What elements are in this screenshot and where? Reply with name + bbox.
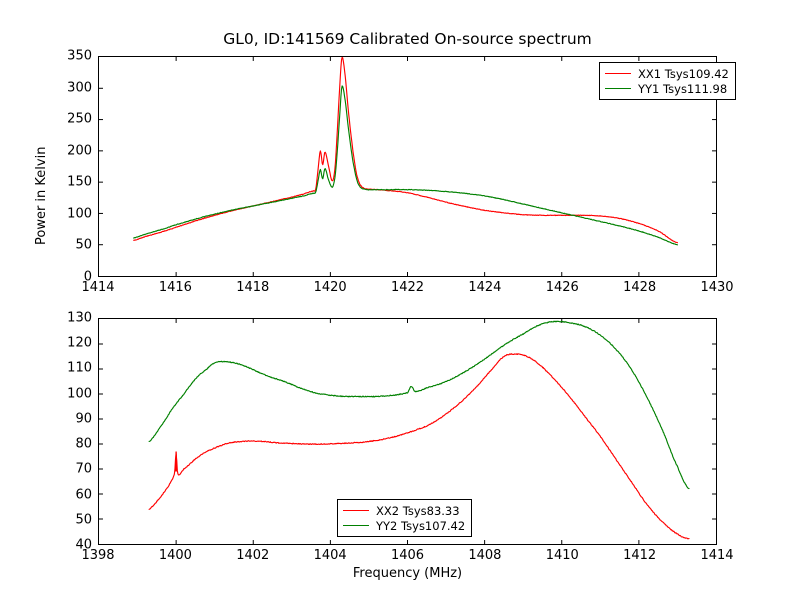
legend-label-yy2: YY2 Tsys107.42 bbox=[376, 519, 465, 533]
x-tick-label: 1418 bbox=[236, 280, 269, 295]
top-panel-y-axis-label: Power in Kelvin bbox=[34, 147, 49, 245]
legend-item: XX2 Tsys83.33 bbox=[343, 503, 465, 518]
y-tick-label: 110 bbox=[67, 361, 92, 376]
legend-item: YY1 Tsys111.98 bbox=[605, 81, 729, 96]
y-tick-label: 100 bbox=[67, 206, 92, 221]
x-tick-label: 1412 bbox=[623, 548, 656, 563]
bottom-panel-legend: XX2 Tsys83.33 YY2 Tsys107.42 bbox=[337, 499, 472, 537]
x-tick-label: 1408 bbox=[468, 548, 501, 563]
figure-title: GL0, ID:141569 Calibrated On-source spec… bbox=[98, 30, 717, 48]
y-tick-label: 50 bbox=[75, 512, 92, 527]
y-tick-label: 100 bbox=[67, 386, 92, 401]
x-tick-label: 1414 bbox=[81, 280, 114, 295]
figure-canvas: GL0, ID:141569 Calibrated On-source spec… bbox=[0, 0, 800, 600]
legend-item: YY2 Tsys107.42 bbox=[343, 518, 465, 533]
bottom-panel-x-axis-label: Frequency (MHz) bbox=[98, 566, 717, 581]
x-tick-label: 1398 bbox=[81, 548, 114, 563]
legend-line-swatch-xx2 bbox=[343, 510, 369, 511]
y-tick-label: 50 bbox=[75, 238, 92, 253]
x-tick-label: 1404 bbox=[314, 548, 347, 563]
y-tick-label: 350 bbox=[67, 49, 92, 64]
x-tick-label: 1420 bbox=[314, 280, 347, 295]
y-tick-label: 300 bbox=[67, 80, 92, 95]
legend-label-yy1: YY1 Tsys111.98 bbox=[638, 82, 727, 96]
y-tick-label: 70 bbox=[75, 462, 92, 477]
y-tick-label: 200 bbox=[67, 143, 92, 158]
x-tick-label: 1410 bbox=[546, 548, 579, 563]
y-tick-label: 150 bbox=[67, 175, 92, 190]
x-tick-label: 1402 bbox=[236, 548, 269, 563]
x-tick-label: 1424 bbox=[468, 280, 501, 295]
y-tick-label: 80 bbox=[75, 437, 92, 452]
y-tick-label: 60 bbox=[75, 487, 92, 502]
legend-item: XX1 Tsys109.42 bbox=[605, 66, 729, 81]
y-tick-label: 130 bbox=[67, 311, 92, 326]
x-tick-label: 1426 bbox=[546, 280, 579, 295]
legend-label-xx2: XX2 Tsys83.33 bbox=[376, 504, 460, 518]
legend-line-swatch-yy2 bbox=[343, 525, 369, 526]
x-tick-label: 1406 bbox=[391, 548, 424, 563]
y-tick-label: 250 bbox=[67, 112, 92, 127]
x-tick-label: 1400 bbox=[159, 548, 192, 563]
y-tick-label: 90 bbox=[75, 411, 92, 426]
y-tick-label: 120 bbox=[67, 336, 92, 351]
x-tick-label: 1428 bbox=[623, 280, 656, 295]
x-tick-label: 1422 bbox=[391, 280, 424, 295]
top-panel-legend: XX1 Tsys109.42 YY1 Tsys111.98 bbox=[599, 62, 736, 100]
x-tick-label: 1416 bbox=[159, 280, 192, 295]
x-tick-label: 1414 bbox=[700, 548, 733, 563]
legend-label-xx1: XX1 Tsys109.42 bbox=[638, 67, 729, 81]
legend-line-swatch-xx1 bbox=[605, 73, 631, 74]
x-tick-label: 1430 bbox=[700, 280, 733, 295]
legend-line-swatch-yy1 bbox=[605, 88, 631, 89]
